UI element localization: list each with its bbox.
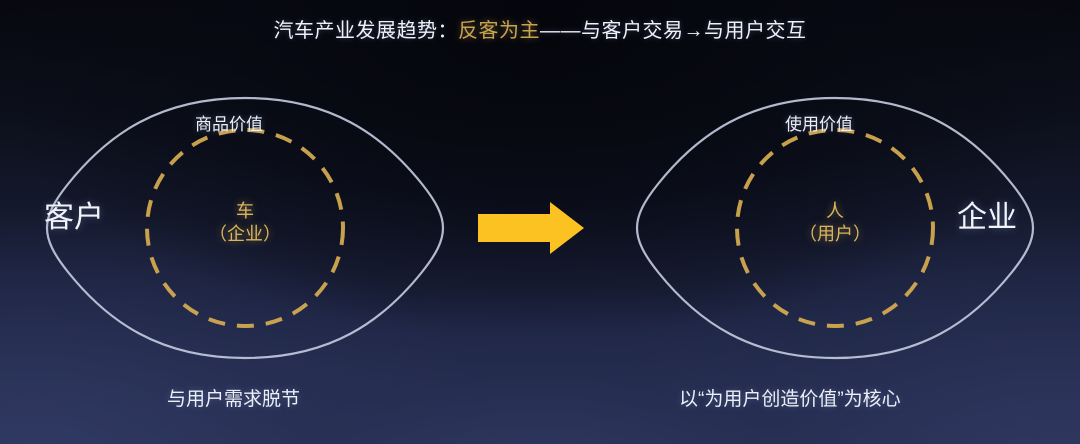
- title-prefix: 汽车产业发展趋势：: [274, 20, 459, 42]
- right-edge-label: 企业: [957, 203, 1017, 233]
- left-caption: 与用户需求脱节: [167, 388, 300, 412]
- arrow-right-icon: [478, 200, 586, 256]
- left-top-label: 商品价值: [195, 115, 263, 134]
- slide-title: 汽车产业发展趋势：反客为主——与客户交易→与用户交互: [0, 16, 1080, 46]
- left-core-line1: 车: [175, 200, 315, 223]
- right-core-line2: （用户）: [765, 223, 905, 246]
- slide-canvas: 汽车产业发展趋势：反客为主——与客户交易→与用户交互 客户 商品价值 车 （企业…: [0, 0, 1080, 444]
- left-core-line2: （企业）: [175, 223, 315, 246]
- left-edge-label: 客户: [44, 203, 104, 233]
- right-caption: 以“为用户创造价值”为核心: [679, 388, 901, 412]
- title-suffix: ——与客户交易→与用户交互: [540, 20, 807, 42]
- left-core-text: 车 （企业）: [175, 200, 315, 246]
- right-core-line1: 人: [765, 200, 905, 223]
- right-core-text: 人 （用户）: [765, 200, 905, 246]
- title-highlight: 反客为主: [458, 20, 540, 42]
- right-top-label: 使用价值: [785, 115, 853, 134]
